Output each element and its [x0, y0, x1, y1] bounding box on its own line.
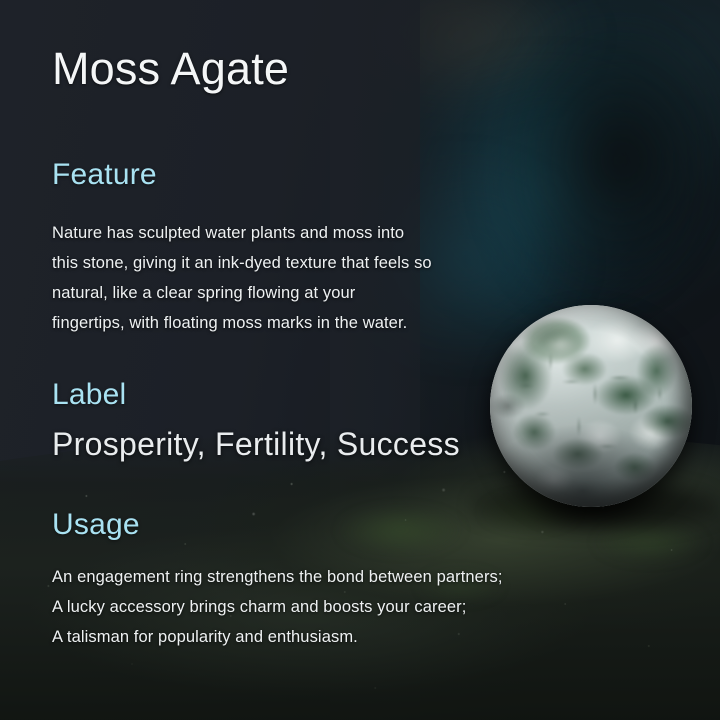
product-info-card: Moss Agate Feature Nature has sculpted w…	[0, 0, 720, 720]
section-body-usage: An engagement ring strengthens the bond …	[52, 562, 612, 652]
usage-line: An engagement ring strengthens the bond …	[52, 562, 612, 592]
feature-line: natural, like a clear spring flowing at …	[52, 278, 522, 308]
section-body-feature: Nature has sculpted water plants and mos…	[52, 218, 522, 338]
section-heading-usage: Usage	[52, 507, 140, 543]
usage-line: A talisman for popularity and enthusiasm…	[52, 622, 612, 652]
section-heading-label: Label	[52, 377, 126, 413]
feature-line: Nature has sculpted water plants and mos…	[52, 218, 522, 248]
section-heading-feature: Feature	[52, 157, 157, 193]
usage-line: A lucky accessory brings charm and boost…	[52, 592, 612, 622]
feature-line: this stone, giving it an ink-dyed textur…	[52, 248, 522, 278]
text-content: Moss Agate Feature Nature has sculpted w…	[52, 0, 672, 720]
feature-line: fingertips, with floating moss marks in …	[52, 308, 522, 338]
label-value: Prosperity, Fertility, Success	[52, 424, 460, 466]
page-title: Moss Agate	[52, 42, 289, 96]
